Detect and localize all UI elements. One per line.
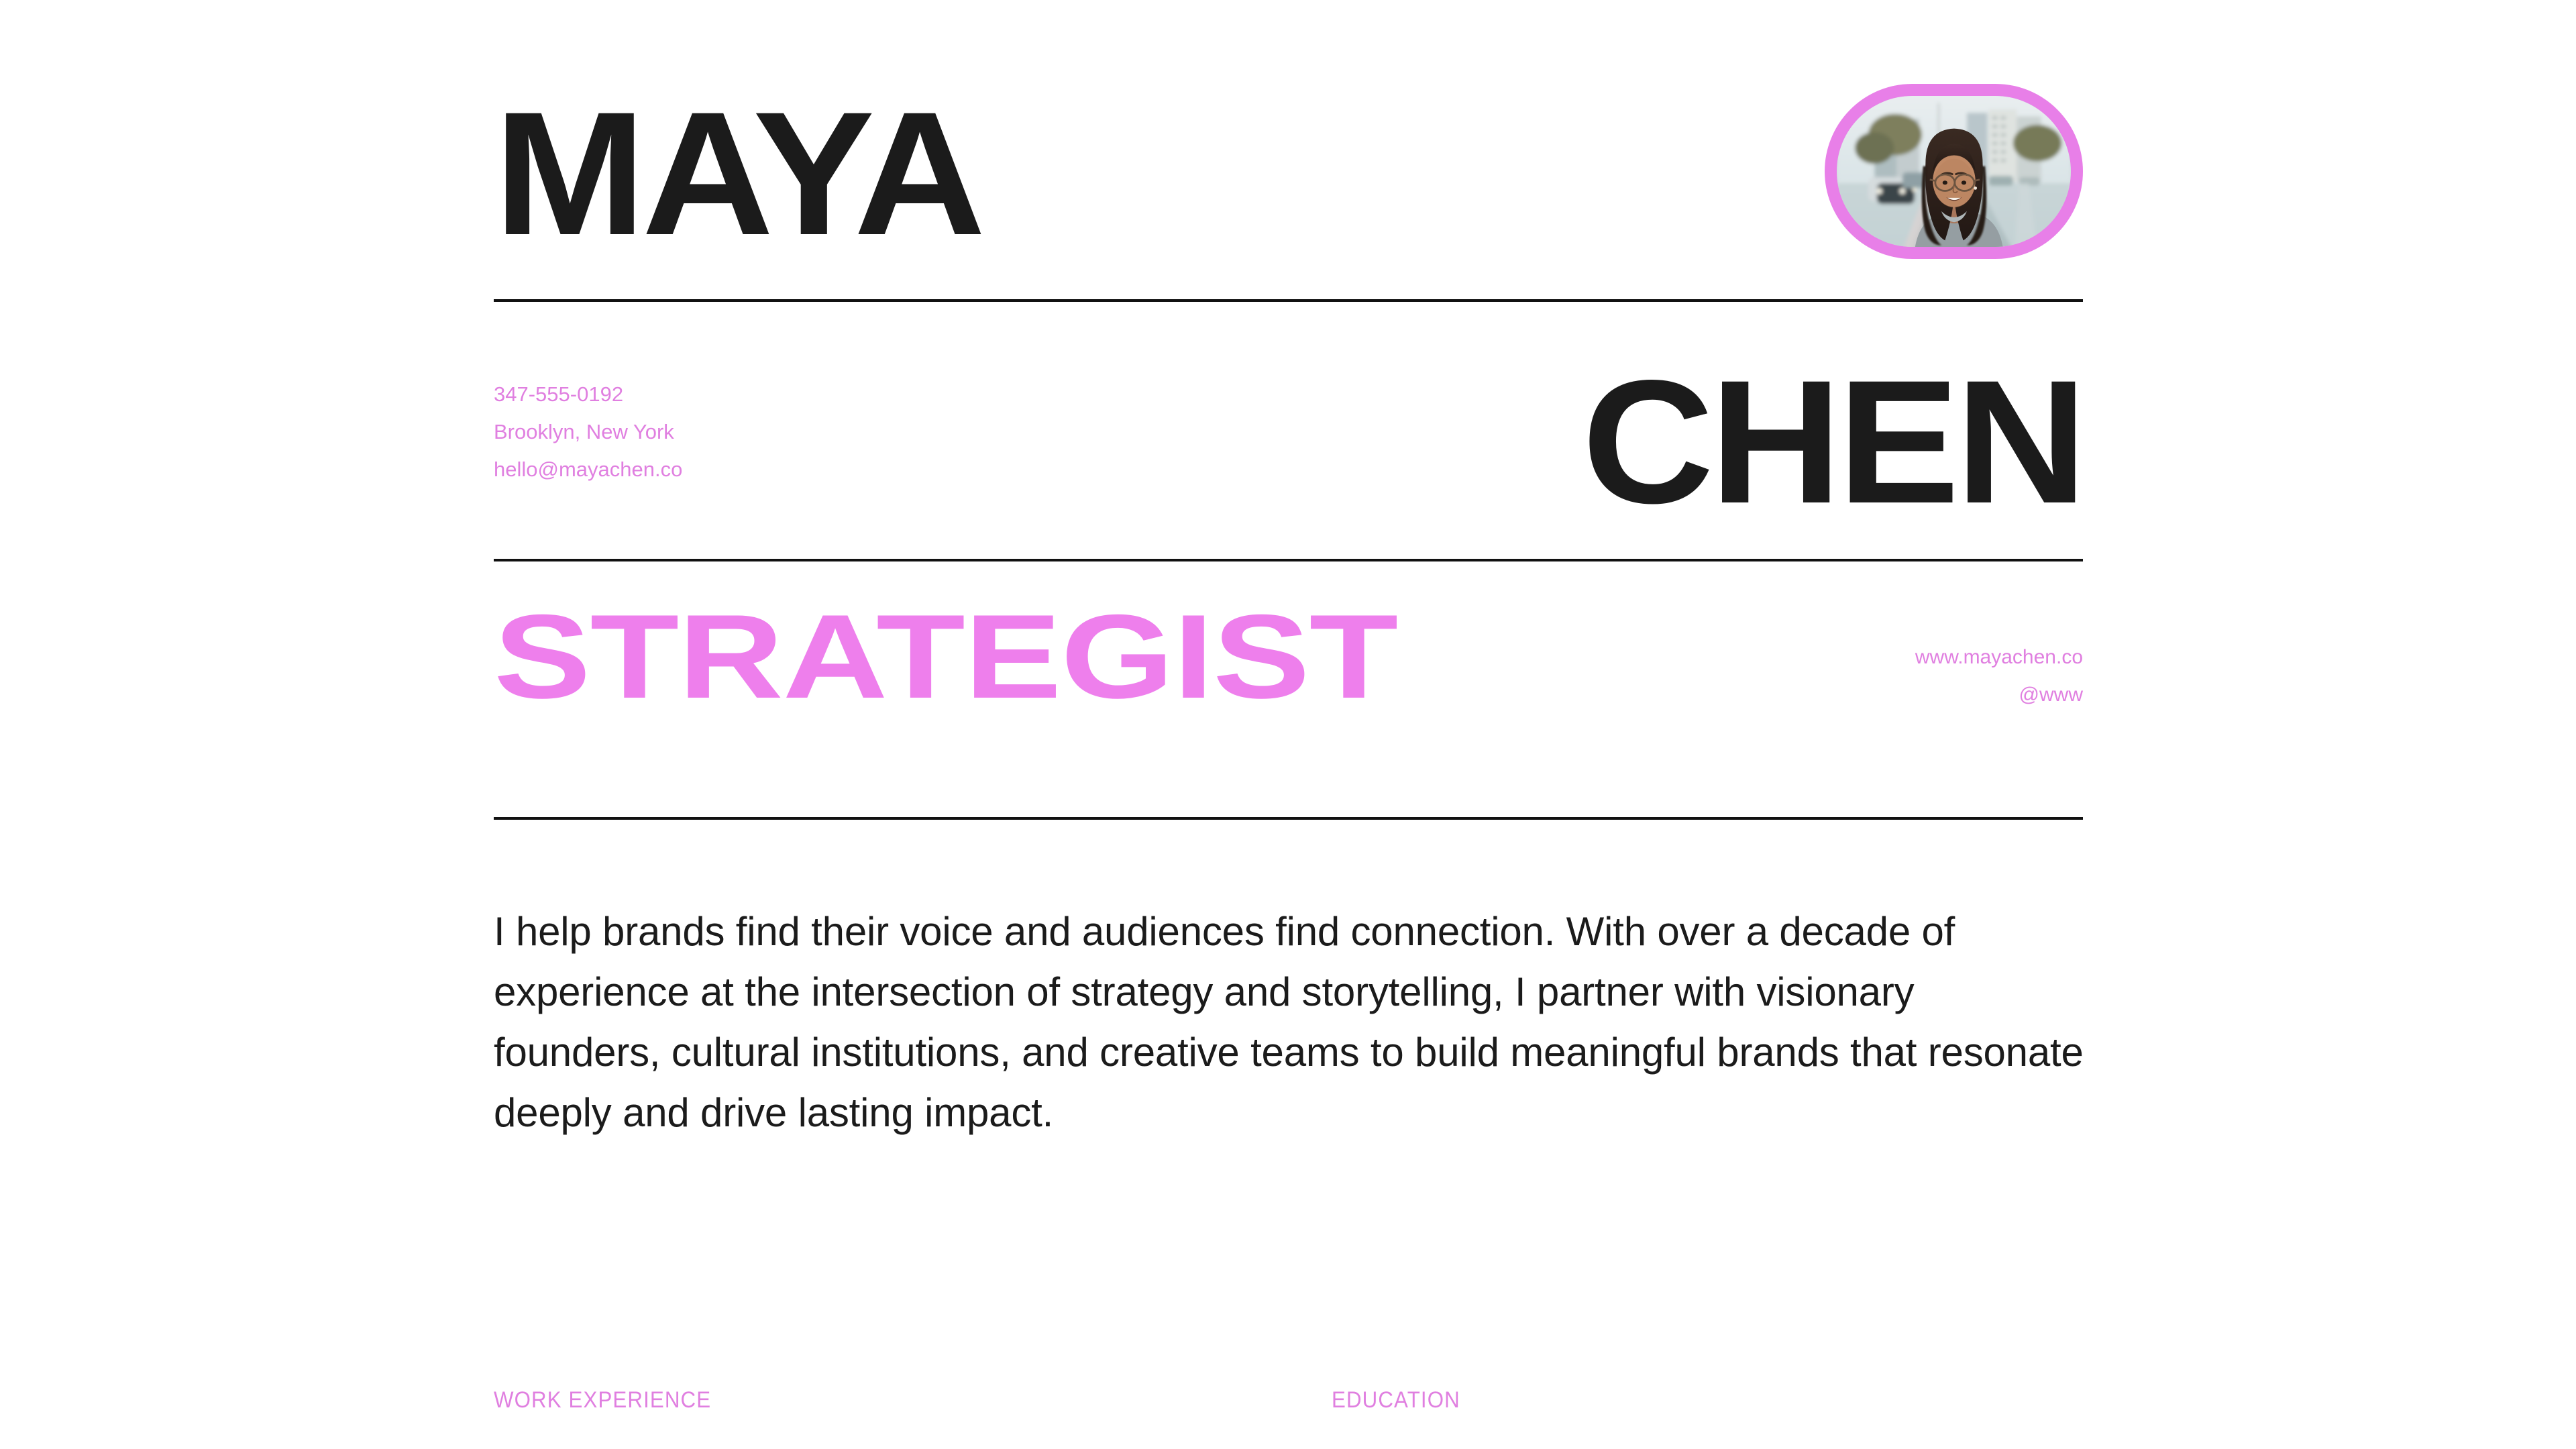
contact-email[interactable]: hello@mayachen.co xyxy=(494,451,682,488)
resume-page: MAYA xyxy=(0,0,2576,1449)
link-website[interactable]: www.mayachen.co xyxy=(1915,639,2083,676)
contact-location: Brooklyn, New York xyxy=(494,413,682,451)
links-list: www.mayachen.co @www xyxy=(1915,639,2083,714)
link-handle[interactable]: @www xyxy=(1915,676,2083,714)
role-heading: STRATEGIST xyxy=(494,597,1397,716)
divider-2 xyxy=(494,559,2083,561)
contact-list: 347-555-0192 Brooklyn, New York hello@ma… xyxy=(494,376,682,488)
contact-name-row: 347-555-0192 Brooklyn, New York hello@ma… xyxy=(494,376,2083,543)
portrait-photo-illustration xyxy=(1837,96,2071,247)
section-label-education: EDUCATION xyxy=(1332,1387,1460,1413)
section-label-work-experience: WORK EXPERIENCE xyxy=(494,1387,711,1413)
role-links-row: STRATEGIST www.mayachen.co @www xyxy=(494,597,2083,798)
first-name-heading: MAYA xyxy=(494,93,981,254)
bio-paragraph: I help brands find their voice and audie… xyxy=(494,902,2090,1143)
name-photo-row: MAYA xyxy=(494,67,2083,301)
contact-phone[interactable]: 347-555-0192 xyxy=(494,376,682,413)
portrait-photo xyxy=(1837,96,2071,247)
avatar xyxy=(1825,84,2083,259)
divider-3 xyxy=(494,817,2083,820)
last-name-heading: CHEN xyxy=(1582,361,2083,523)
divider-1 xyxy=(494,299,2083,302)
